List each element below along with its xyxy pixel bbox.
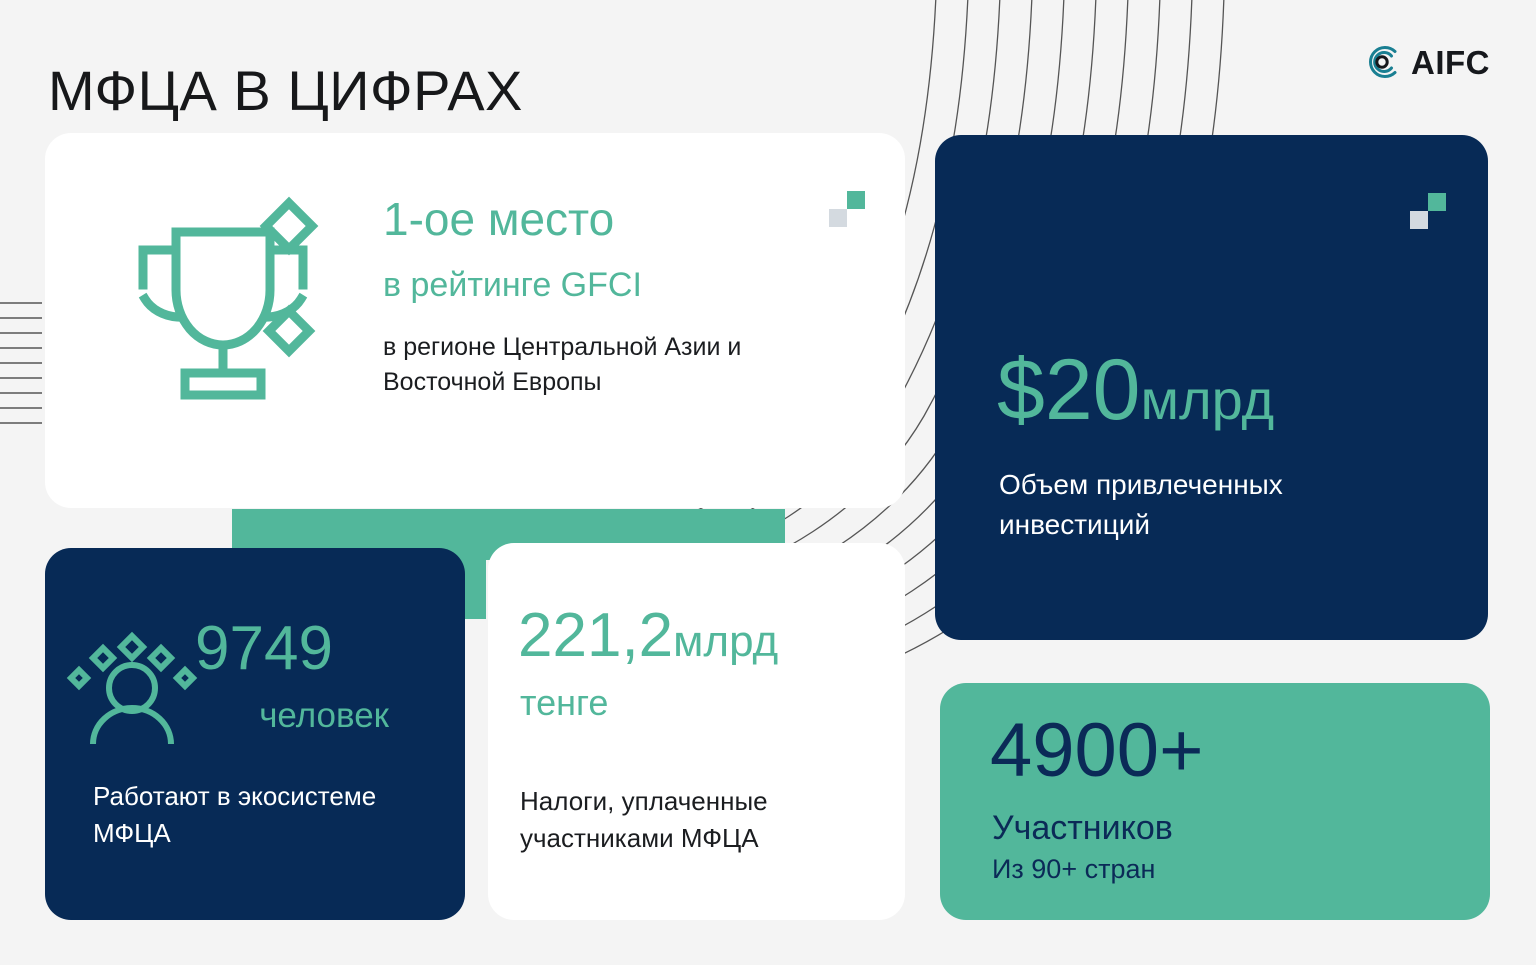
- page-title: МФЦА В ЦИФРАХ: [48, 62, 523, 121]
- card-gfci-ranking: 1-ое место в рейтинге GFCI в регионе Цен…: [45, 133, 905, 508]
- tax-description: Налоги, уплаченные участниками МФЦА: [520, 783, 880, 857]
- card-investments: $20млрд Объем привлеченных инвестиций: [935, 135, 1488, 640]
- ornament-square-teal: [1428, 193, 1446, 211]
- aifc-logo-text: AIFC: [1411, 46, 1490, 79]
- ornament-square-teal: [847, 191, 865, 209]
- members-number: 4900+: [990, 713, 1203, 789]
- investments-number-line: $20млрд: [997, 347, 1274, 433]
- aifc-logo: AIFC: [1362, 40, 1490, 84]
- members-label: Участников: [992, 811, 1173, 847]
- trophy-icon: [123, 195, 323, 405]
- aifc-circular-mark: [1362, 42, 1402, 82]
- gfci-subhead: в рейтинге GFCI: [383, 267, 843, 304]
- tax-number: 221,2: [518, 601, 673, 670]
- card-taxes: 221,2млрд тенге Налоги, уплаченные участ…: [488, 543, 905, 920]
- investments-number: $20: [997, 342, 1141, 438]
- card-members: 4900+ Участников Из 90+ стран: [940, 683, 1490, 920]
- gfci-text-block: 1-ое место в рейтинге GFCI в регионе Цен…: [383, 195, 843, 399]
- gfci-description: в регионе Центральной Азии и Восточной Е…: [383, 330, 843, 399]
- tax-number-line: 221,2млрд: [518, 605, 778, 667]
- people-description: Работают в экосистеме МФЦА: [93, 778, 433, 852]
- tax-unit: тенге: [520, 685, 608, 721]
- infographic-slide: МФЦА В ЦИФРАХ AIFC: [0, 0, 1536, 965]
- people-unit: человек: [45, 698, 389, 733]
- corner-square-ornament: [1410, 193, 1446, 229]
- members-note: Из 90+ стран: [992, 855, 1155, 883]
- investments-description: Объем привлеченных инвестиций: [999, 465, 1429, 545]
- investments-number-suffix: млрд: [1141, 368, 1275, 431]
- people-number: 9749: [195, 618, 333, 680]
- ornament-square-grey: [1410, 211, 1428, 229]
- gfci-headline: 1-ое место: [383, 195, 843, 245]
- card-people-count: 9749 человек Работают в экосистеме МФЦА: [45, 548, 465, 920]
- tax-number-suffix: млрд: [673, 617, 778, 666]
